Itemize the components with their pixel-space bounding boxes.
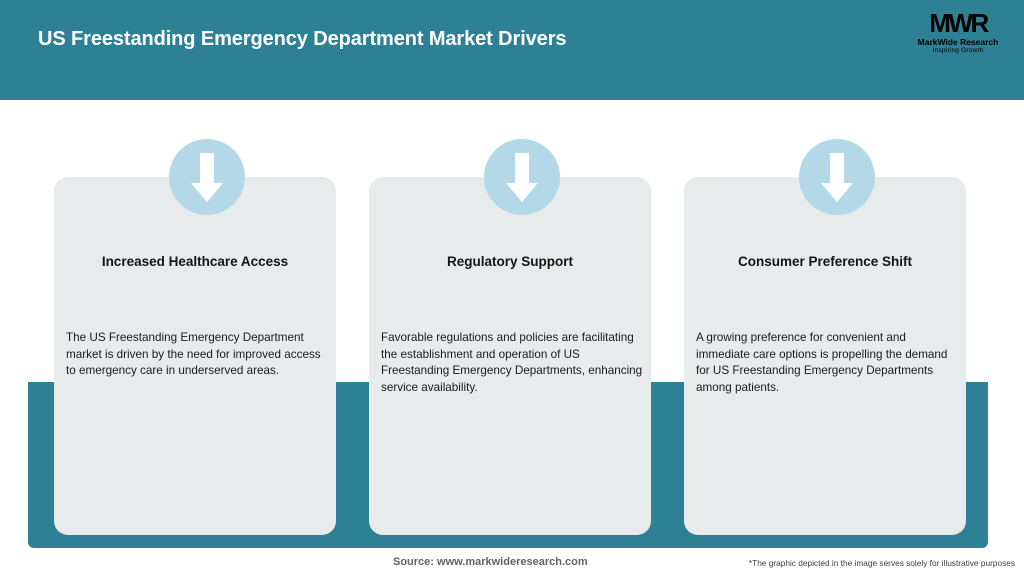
card-surface: Regulatory Support Favorable regulations…: [369, 177, 651, 535]
card-body-text: Favorable regulations and policies are f…: [381, 330, 643, 396]
header-bar: US Freestanding Emergency Department Mar…: [0, 0, 1024, 100]
down-arrow-icon: [484, 139, 560, 215]
card-title: Consumer Preference Shift: [696, 254, 954, 270]
card-surface: Consumer Preference Shift A growing pref…: [684, 177, 966, 535]
down-arrow-icon: [799, 139, 875, 215]
driver-card-3: Consumer Preference Shift A growing pref…: [658, 100, 988, 576]
card-surface: Increased Healthcare Access The US Frees…: [54, 177, 336, 535]
disclaimer-text: *The graphic depicted in the image serve…: [749, 558, 1015, 568]
logo-company-name: MarkWide Research: [918, 37, 999, 47]
driver-card-2: Regulatory Support Favorable regulations…: [343, 100, 673, 576]
card-title: Increased Healthcare Access: [66, 254, 324, 270]
logo-tagline: Inspiring Growth: [933, 47, 984, 55]
driver-card-1: Increased Healthcare Access The US Frees…: [28, 100, 358, 576]
cards-stage: Increased Healthcare Access The US Frees…: [0, 100, 1024, 576]
card-body-text: The US Freestanding Emergency Department…: [66, 330, 328, 380]
page-title: US Freestanding Emergency Department Mar…: [38, 28, 566, 51]
source-label: Source: www.markwideresearch.com: [393, 556, 588, 568]
card-title: Regulatory Support: [381, 254, 639, 270]
logo-monogram: MWR: [929, 10, 986, 36]
down-arrow-icon: [169, 139, 245, 215]
card-body-text: A growing preference for convenient and …: [696, 330, 958, 396]
brand-logo: MWR MarkWide Research Inspiring Growth: [906, 6, 1010, 58]
